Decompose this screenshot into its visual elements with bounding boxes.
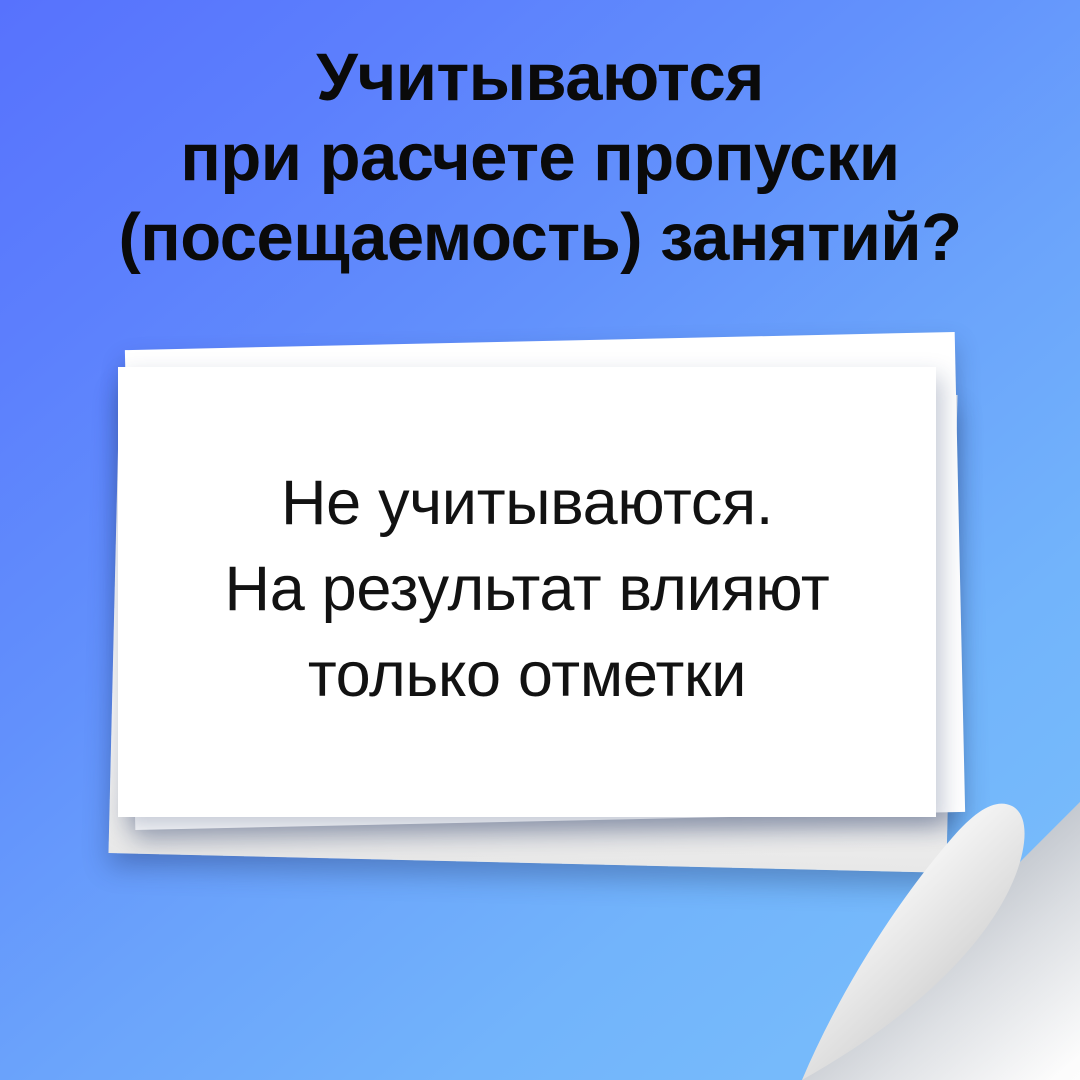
answer-text: Не учитываются. На результат влияют толь… — [118, 460, 936, 724]
page-title: Учитываются при расчете пропуски (посеща… — [0, 38, 1080, 278]
answer-line-3: только отметки — [118, 632, 936, 718]
answer-line-2: На результат влияют — [118, 546, 936, 632]
card-stack: Не учитываются. На результат влияют толь… — [118, 345, 958, 855]
answer-card: Не учитываются. На результат влияют толь… — [118, 367, 936, 817]
title-line-2: при расчете пропуски — [24, 118, 1056, 198]
slide-canvas: Учитываются при расчете пропуски (посеща… — [0, 0, 1080, 1080]
answer-line-1: Не учитываются. — [118, 460, 936, 546]
title-line-1: Учитываются — [24, 38, 1056, 118]
title-line-3: (посещаемость) занятий? — [24, 198, 1056, 278]
